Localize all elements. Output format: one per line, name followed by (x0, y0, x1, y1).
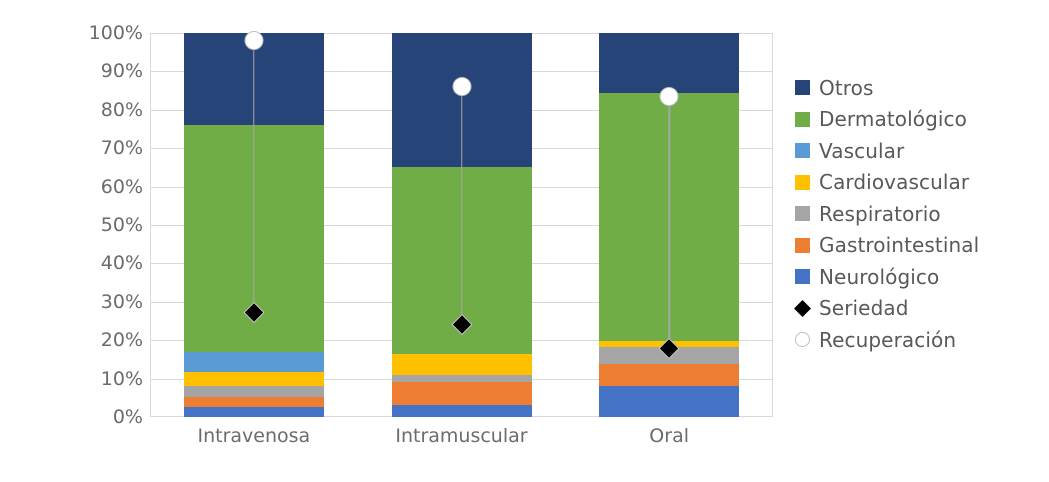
legend-label: Recuperación (819, 328, 956, 352)
legend-swatch-square-icon (795, 143, 810, 158)
y-tick-label: 20% (63, 329, 143, 351)
legend-item[interactable]: Vascular (795, 135, 1045, 167)
bar-group[interactable] (184, 33, 324, 417)
marker-connector-line (461, 87, 463, 324)
bar-segment[interactable] (392, 354, 532, 376)
y-tick-label: 90% (63, 60, 143, 82)
legend-label: Dermatológico (819, 107, 967, 131)
legend-label: Cardiovascular (819, 170, 969, 194)
bar-group[interactable] (392, 33, 532, 417)
legend-label: Otros (819, 76, 874, 100)
legend-swatch-square-icon (795, 269, 810, 284)
legend-item[interactable]: Recuperación (795, 324, 1045, 356)
y-tick-label: 40% (63, 252, 143, 274)
stacked-bar-chart: Frecuencia relativa 0%10%20%30%40%50%60%… (0, 0, 1049, 482)
bar-segment[interactable] (599, 364, 739, 386)
recuperacion-marker[interactable] (452, 77, 471, 96)
legend-label: Neurológico (819, 265, 939, 289)
legend-item[interactable]: Otros (795, 72, 1045, 104)
legend-item[interactable]: Neurológico (795, 261, 1045, 293)
y-tick-label: 50% (63, 214, 143, 236)
marker-connector-line (253, 41, 255, 312)
bar-segment[interactable] (599, 33, 739, 93)
bar-segment[interactable] (599, 386, 739, 417)
legend-item[interactable]: Dermatológico (795, 104, 1045, 136)
legend-item[interactable]: Gastrointestinal (795, 230, 1045, 262)
y-tick-label: 30% (63, 291, 143, 313)
legend-swatch-square-icon (795, 80, 810, 95)
bar-group[interactable] (599, 33, 739, 417)
legend-label: Respiratorio (819, 202, 941, 226)
legend: OtrosDermatológicoVascularCardiovascular… (795, 72, 1045, 356)
legend-swatch-square-icon (795, 206, 810, 221)
legend-swatch-circle-icon (795, 332, 810, 347)
bar-segment[interactable] (392, 375, 532, 382)
bar-segment[interactable] (184, 407, 324, 417)
y-tick-label: 80% (63, 99, 143, 121)
bar-segment[interactable] (184, 397, 324, 407)
legend-label: Gastrointestinal (819, 233, 979, 257)
bar-segment[interactable] (392, 405, 532, 417)
y-tick-label: 100% (63, 22, 143, 44)
recuperacion-marker[interactable] (660, 87, 679, 106)
x-axis-category-labels: IntravenosaIntramuscularOral (150, 425, 773, 455)
legend-label: Seriedad (819, 296, 909, 320)
y-tick-label: 10% (63, 368, 143, 390)
y-tick-label: 0% (63, 406, 143, 428)
legend-item[interactable]: Seriedad (795, 293, 1045, 325)
x-tick-label: Oral (565, 425, 773, 447)
x-tick-label: Intravenosa (150, 425, 358, 447)
bar-segment[interactable] (184, 372, 324, 386)
bar-segment[interactable] (184, 352, 324, 372)
legend-swatch-square-icon (795, 175, 810, 190)
legend-label: Vascular (819, 139, 904, 163)
y-axis-tick-labels: 0%10%20%30%40%50%60%70%80%90%100% (55, 33, 143, 417)
legend-item[interactable]: Cardiovascular (795, 167, 1045, 199)
recuperacion-marker[interactable] (244, 31, 263, 50)
legend-swatch-square-icon (795, 238, 810, 253)
x-tick-label: Intramuscular (358, 425, 566, 447)
bar-segment[interactable] (184, 386, 324, 397)
y-tick-label: 60% (63, 176, 143, 198)
bars-layer (150, 33, 773, 417)
y-tick-label: 70% (63, 137, 143, 159)
legend-item[interactable]: Respiratorio (795, 198, 1045, 230)
legend-swatch-square-icon (795, 112, 810, 127)
marker-connector-line (668, 96, 670, 348)
bar-segment[interactable] (392, 382, 532, 405)
legend-swatch-diamond-icon (794, 300, 811, 317)
